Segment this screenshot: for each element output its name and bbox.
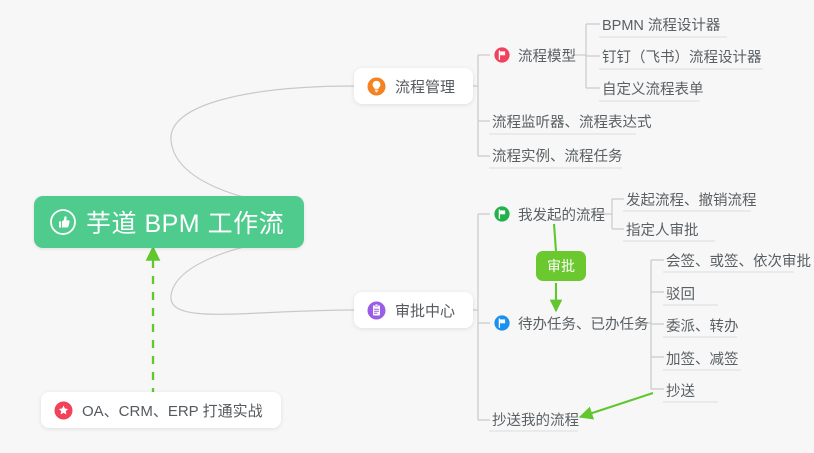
node-process-model[interactable]: 流程模型 [492,40,586,70]
node-label: 我发起的流程 [518,204,605,225]
node-label: 会签、或签、依次审批 [666,250,811,271]
node-label: 委派、转办 [666,315,739,336]
node-label: 加签、减签 [666,348,739,369]
footnote-label: OA、CRM、ERP 打通实战 [82,400,263,421]
node-process-listener-expression[interactable]: 流程监听器、流程表达式 [490,106,662,136]
node-cc-to-me-process[interactable]: 抄送我的流程 [490,404,589,434]
node-label: 驳回 [666,283,695,304]
node-label: BPMN 流程设计器 [602,14,720,35]
thumbs-up-icon [50,209,76,235]
node-process-instance-task[interactable]: 流程实例、流程任务 [490,140,633,170]
flag-icon [494,47,510,63]
node-reject[interactable]: 驳回 [664,278,705,308]
node-my-started-process[interactable]: 我发起的流程 [492,199,615,229]
branch-label: 流程管理 [395,76,455,97]
footnote-node[interactable]: OA、CRM、ERP 打通实战 [41,392,281,428]
node-label: 自定义流程表单 [602,78,704,99]
node-cc[interactable]: 抄送 [664,375,705,405]
node-assignee-approval[interactable]: 指定人审批 [624,214,709,244]
node-label: 流程实例、流程任务 [492,145,623,166]
node-dingtalk-feishu-designer[interactable]: 钉钉（飞书）流程设计器 [600,41,772,71]
node-start-cancel-process[interactable]: 发起流程、撤销流程 [624,184,767,214]
root-label: 芋道 BPM 工作流 [86,204,284,240]
clipboard-icon [367,301,386,320]
star-badge-icon [54,401,73,420]
flag-icon [494,315,510,331]
node-bpmn-designer[interactable]: BPMN 流程设计器 [600,9,730,39]
node-label: 抄送我的流程 [492,409,579,430]
mindmap-canvas: 芋道 BPM 工作流 OA、CRM、ERP 打通实战 流程管理 [0,0,814,453]
lightbulb-icon [367,77,386,96]
branch-approval-center[interactable]: 审批中心 [354,292,473,328]
node-label: 钉钉（飞书）流程设计器 [602,46,762,67]
branch-label: 审批中心 [395,300,455,321]
node-add-remove-sign[interactable]: 加签、减签 [664,343,749,373]
root-node[interactable]: 芋道 BPM 工作流 [34,196,304,248]
node-delegate-transfer[interactable]: 委派、转办 [664,310,749,340]
node-countersign-or-sequential[interactable]: 会签、或签、依次审批 [664,245,814,275]
node-custom-process-form[interactable]: 自定义流程表单 [600,73,714,103]
node-label: 流程监听器、流程表达式 [492,111,652,132]
node-label: 指定人审批 [626,219,699,240]
branch-process-management[interactable]: 流程管理 [354,68,473,104]
approval-pill-annotation: 审批 [536,251,586,281]
approval-pill-label: 审批 [547,256,575,276]
node-label: 流程模型 [518,45,576,66]
node-todo-done-tasks[interactable]: 待办任务、已办任务 [492,308,659,338]
flag-icon [494,206,510,222]
node-label: 发起流程、撤销流程 [626,189,757,210]
node-label: 抄送 [666,380,695,401]
node-label: 待办任务、已办任务 [518,313,649,334]
